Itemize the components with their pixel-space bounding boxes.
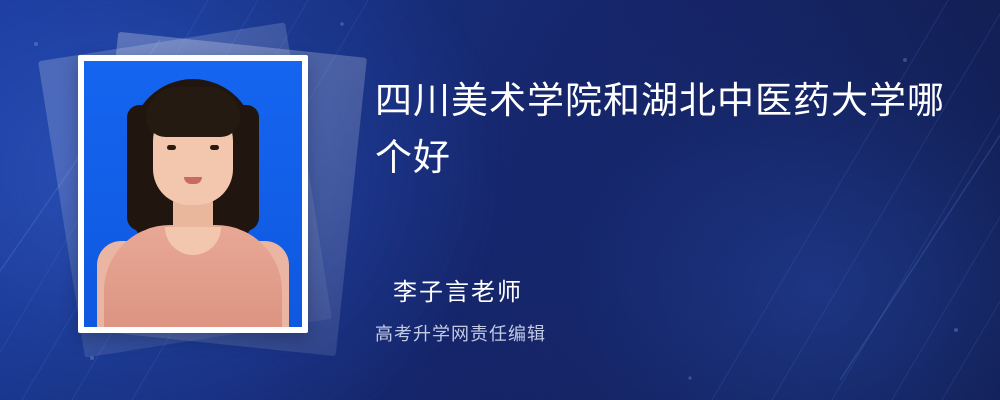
portrait-fringe [146,87,240,137]
author-name: 李子言老师 [393,272,523,307]
portrait-photo [84,61,302,327]
photo-card-stack [42,28,372,358]
portrait-eye-left [167,145,176,150]
portrait-eye-right [210,145,219,150]
article-title: 四川美术学院和湖北中医药大学哪个好 [375,72,965,187]
author-role: 高考升学网责任编辑 [375,320,546,346]
portrait-photo-frame [78,55,308,333]
article-cover-banner: 四川美术学院和湖北中医药大学哪个好 李子言老师 高考升学网责任编辑 [0,0,1000,400]
text-content-area: 四川美术学院和湖北中医药大学哪个好 李子言老师 高考升学网责任编辑 [375,0,1000,400]
